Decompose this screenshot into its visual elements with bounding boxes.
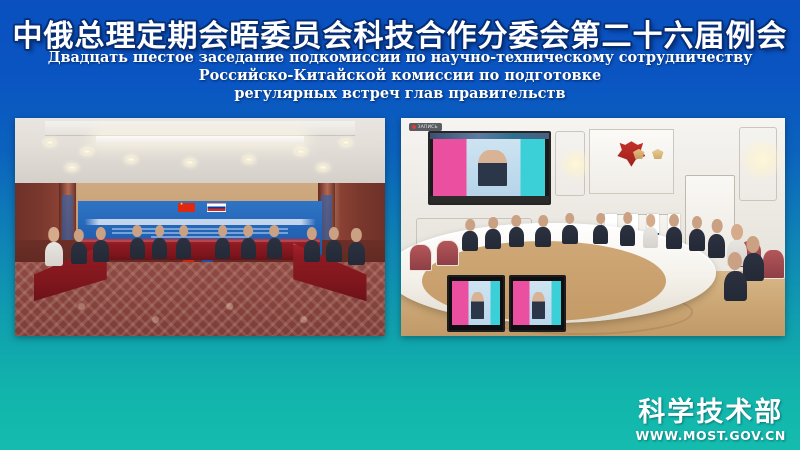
backdrop-title-text: [85, 219, 315, 225]
attendee: [666, 227, 682, 249]
attendee: [620, 225, 635, 246]
remote-speaker: [471, 292, 484, 319]
ceiling-light-panel: [96, 136, 303, 143]
downlight-icon: [244, 157, 254, 162]
watermark-organization: 科学技术部: [635, 399, 786, 426]
wall-light-glow: [558, 149, 593, 180]
recording-badge: ЗАПИСЬ: [409, 123, 442, 131]
watermark-url: WWW.MOST.GOV.CN: [635, 430, 786, 443]
watermark: 科学技术部 WWW.MOST.GOV.CN: [635, 399, 786, 443]
subtitle-line-2: Российско-Китайской комиссии по подготов…: [0, 67, 800, 84]
header-banner: 中俄总理定期会晤委员会科技合作分委会第二十六届例会 Двадцать шесто…: [0, 0, 800, 108]
attendee: [562, 225, 577, 245]
attendee: [462, 231, 477, 251]
video-feed-image: [433, 137, 545, 196]
subtitle-line-1: Двадцать шестое заседание подкомиссии по…: [0, 49, 800, 66]
video-feed-image: [513, 281, 561, 325]
attendee: [485, 229, 500, 249]
downlight-icon: [296, 149, 306, 154]
russia-flag-icon: [207, 203, 225, 212]
china-flag-icon: [178, 203, 195, 212]
attendee: [509, 227, 524, 247]
chinese-hall-scene: [15, 118, 385, 336]
remote-speaker: [532, 292, 545, 319]
subtitle-line-3: регулярных встреч глав правительств: [0, 85, 800, 102]
table-skirt-back: [80, 240, 320, 260]
ornate-chair: [436, 240, 459, 266]
downlight-icon: [45, 140, 55, 145]
downlight-icon: [318, 165, 328, 170]
ceiling-inset: [45, 121, 356, 136]
emblem-panel: [589, 129, 673, 194]
photo-chinese-delegation: [15, 118, 385, 336]
downlight-icon: [67, 165, 77, 170]
wall-light-glow: [739, 140, 785, 179]
russian-hall-scene: ЗАПИСЬ: [401, 118, 785, 336]
attendee: [535, 227, 550, 247]
ornate-chair: [762, 249, 785, 280]
ornate-chair: [409, 244, 432, 270]
attendee: [643, 227, 658, 248]
video-feed-image: [452, 281, 500, 325]
attendee: [152, 238, 168, 259]
attendee: [724, 271, 747, 302]
attendee: [93, 240, 110, 262]
gilt-sconce-icon: [652, 149, 664, 159]
attendee: [743, 253, 764, 281]
downlight-icon: [341, 140, 351, 145]
attendee: [241, 238, 257, 259]
table-monitor: [509, 275, 567, 332]
attendee: [689, 229, 705, 251]
attendee: [593, 225, 608, 245]
downlight-icon: [185, 160, 195, 165]
attendee: [708, 234, 725, 258]
attendee: [45, 242, 64, 266]
attendee: [71, 242, 88, 264]
attendee: [215, 238, 231, 259]
attendee: [326, 240, 343, 262]
attendee: [348, 242, 365, 265]
photo-russian-delegation: ЗАПИСЬ: [401, 118, 785, 336]
attendee: [267, 238, 283, 259]
video-feed-header: [430, 133, 549, 139]
attendee: [130, 238, 146, 259]
video-wall-screen: [428, 131, 551, 205]
downlight-icon: [126, 157, 136, 162]
attendee: [176, 238, 192, 259]
screen-bezel: [430, 196, 549, 203]
remote-speaker: [478, 150, 507, 185]
attendee: [304, 240, 321, 262]
table-monitor: [447, 275, 505, 332]
ceiling: [15, 118, 385, 192]
downlight-icon: [82, 149, 92, 154]
